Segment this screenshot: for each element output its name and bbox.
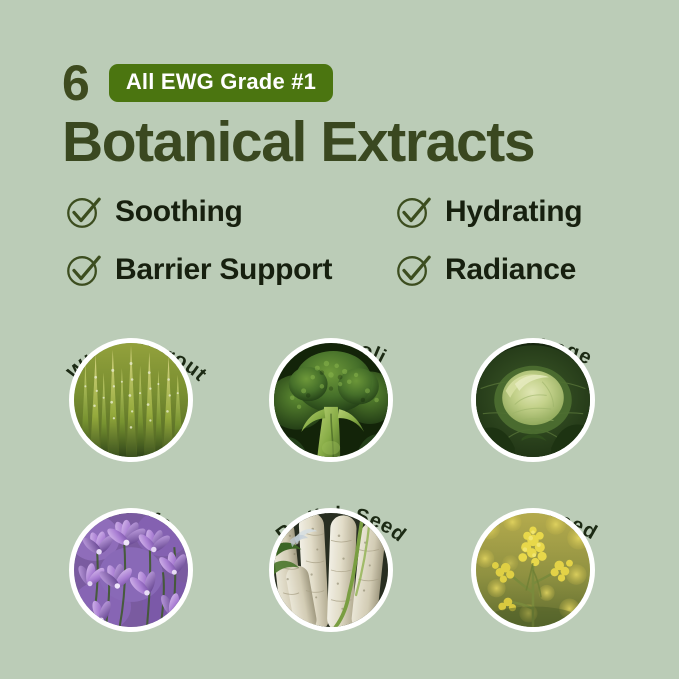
benefits-list: Soothing Hydrating Barrier Support <box>64 193 634 289</box>
wheat-sprout-photo <box>69 338 193 462</box>
benefit-item-radiance: Radiance <box>394 251 634 289</box>
benefit-label: Barrier Support <box>115 253 332 287</box>
rapeseed-photo <box>471 508 595 632</box>
extract-count: 6 <box>62 58 89 108</box>
benefit-label: Radiance <box>445 253 576 287</box>
broccoli-photo <box>269 338 393 462</box>
ingredient-cabbage: Cabbage <box>463 300 625 462</box>
check-circle-icon <box>394 193 432 231</box>
check-circle-icon <box>64 193 102 231</box>
benefit-item-soothing: Soothing <box>64 193 394 231</box>
ingredients-row-top: Wheat Sprout <box>0 300 679 462</box>
check-circle-icon <box>394 251 432 289</box>
ingredient-alfalfa: Alfalfa <box>55 472 217 634</box>
benefit-label: Hydrating <box>445 195 582 229</box>
benefit-label: Soothing <box>115 195 243 229</box>
ingredients-row-bottom: Alfalfa <box>0 472 679 634</box>
alfalfa-photo <box>69 508 193 632</box>
page-title: Botanical Extracts <box>62 112 534 172</box>
ingredients-grid: Wheat Sprout <box>0 300 679 634</box>
benefit-item-hydrating: Hydrating <box>394 193 634 231</box>
ingredient-wheat-sprout: Wheat Sprout <box>55 300 217 462</box>
botanical-extracts-poster: 6 All EWG Grade #1 Botanical Extracts So… <box>0 0 679 679</box>
cabbage-photo <box>471 338 595 462</box>
ingredient-broccoli: Broccoli <box>259 300 421 462</box>
ingredient-radish-seed: Radish Seed <box>259 472 421 634</box>
radish-seed-photo <box>269 508 393 632</box>
ewg-grade-badge: All EWG Grade #1 <box>109 64 333 102</box>
check-circle-icon <box>64 251 102 289</box>
header-row: 6 All EWG Grade #1 <box>62 58 333 108</box>
benefit-item-barrier-support: Barrier Support <box>64 251 394 289</box>
ingredient-rapeseed: Rapeseed <box>463 472 625 634</box>
